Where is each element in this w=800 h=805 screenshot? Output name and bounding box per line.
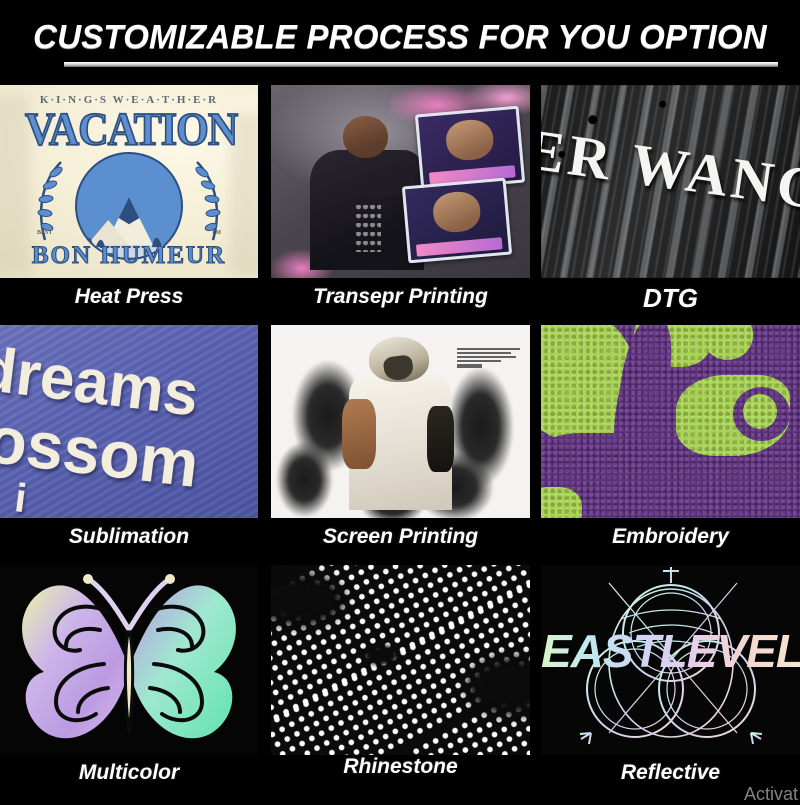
art-text-best: BEST xyxy=(37,230,52,236)
header: CUSTOMIZABLE PROCESS FOR YOU OPTION xyxy=(0,0,800,80)
artwork-embroidery xyxy=(541,325,800,518)
caption-screen-printing: Screen Printing xyxy=(271,525,530,549)
thumbnail-multicolor xyxy=(0,565,258,755)
grid-cell-heat-press[interactable]: K·I·N·G·S W·E·A·T·H·E·R VACATION xyxy=(0,85,258,324)
grid-cell-dtg[interactable]: ER WANG DTG xyxy=(541,85,800,324)
artwork-heat-press: K·I·N·G·S W·E·A·T·H·E·R VACATION xyxy=(0,85,258,278)
thumbnail-reflective: EASTLEVEL xyxy=(541,565,800,755)
caption-rhinestone: Rhinestone xyxy=(271,755,530,779)
thumbnail-dtg: ER WANG xyxy=(541,85,800,278)
grid-cell-rhinestone[interactable]: Rhinestone xyxy=(271,565,530,801)
caption-reflective: Reflective xyxy=(541,761,800,785)
masked-figure xyxy=(349,337,453,511)
print-credit-text xyxy=(457,348,519,370)
thumbnail-screen-printing xyxy=(271,325,530,518)
page-title: CUSTOMIZABLE PROCESS FOR YOU OPTION xyxy=(0,18,800,56)
art-text-eastlevel: EASTLEVEL xyxy=(541,624,800,678)
artwork-multicolor xyxy=(0,565,258,755)
artwork-screen-printing xyxy=(271,325,530,518)
artwork-transfer-printing xyxy=(271,85,530,278)
caption-dtg: DTG xyxy=(541,283,800,314)
process-grid: K·I·N·G·S W·E·A·T·H·E·R VACATION xyxy=(0,85,800,801)
windows-activation-watermark: Activat xyxy=(744,784,798,805)
grid-cell-sublimation[interactable]: dreams lossom i Sublimation xyxy=(0,325,258,564)
caption-embroidery: Embroidery xyxy=(541,525,800,549)
caption-multicolor: Multicolor xyxy=(0,761,258,785)
thumbnail-sublimation: dreams lossom i xyxy=(0,325,258,518)
laurel-right-icon xyxy=(191,158,227,244)
thumbnail-transfer-printing xyxy=(271,85,530,278)
caption-transfer-printing: Transepr Printing xyxy=(271,285,530,309)
artwork-sublimation: dreams lossom i xyxy=(0,325,258,518)
grid-cell-transfer-printing[interactable]: Transepr Printing xyxy=(271,85,530,324)
poster-root: CUSTOMIZABLE PROCESS FOR YOU OPTION K·I·… xyxy=(0,0,800,801)
thumbnail-embroidery xyxy=(541,325,800,518)
grid-cell-multicolor[interactable]: Multicolor xyxy=(0,565,258,801)
thumbnail-rhinestone xyxy=(271,565,530,755)
artwork-rhinestone xyxy=(271,565,530,755)
thumbnail-heat-press: K·I·N·G·S W·E·A·T·H·E·R VACATION xyxy=(0,85,258,278)
art-text-vacation: VACATION xyxy=(25,103,233,157)
title-underline xyxy=(64,62,778,67)
art-text-bon-humeur: BON HUMEUR xyxy=(25,242,233,270)
butterfly-icon xyxy=(4,568,254,752)
caption-heat-press: Heat Press xyxy=(0,285,258,309)
portrait-card-top xyxy=(415,106,526,192)
caption-sublimation: Sublimation xyxy=(0,525,258,549)
grid-cell-screen-printing[interactable]: Screen Printing xyxy=(271,325,530,564)
portrait-card-bottom xyxy=(402,177,513,263)
grid-cell-reflective[interactable]: EASTLEVEL Reflective xyxy=(541,565,800,801)
artwork-dtg: ER WANG xyxy=(541,85,800,278)
artwork-reflective: EASTLEVEL xyxy=(541,565,800,755)
grid-cell-embroidery[interactable]: Embroidery xyxy=(541,325,800,564)
art-text-tm: TM xyxy=(211,230,221,236)
